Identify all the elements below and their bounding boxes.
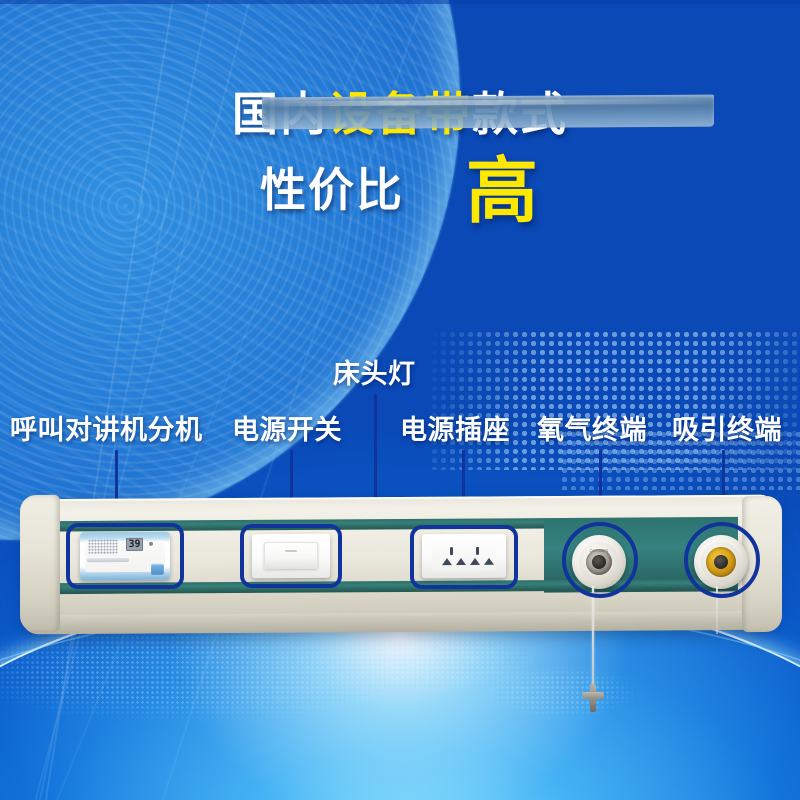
callout-box-power-switch[interactable] bbox=[240, 524, 342, 588]
callout-box-oxygen-outlet[interactable] bbox=[562, 522, 638, 598]
pendant-crossbar bbox=[582, 692, 604, 699]
headline-emphasis-char: 高 bbox=[466, 152, 540, 232]
callout-label-bedside-lamp: 床头灯 bbox=[333, 358, 416, 390]
top-edge-bar bbox=[0, 0, 800, 4]
headline-line-2: 性价比高 bbox=[0, 156, 800, 228]
unit-end-cap-left bbox=[20, 495, 60, 632]
callout-box-suction-outlet[interactable] bbox=[684, 522, 760, 598]
callout-label-power-switch: 电源开关 bbox=[232, 414, 342, 446]
callout-label-intercom: 呼叫对讲机分机 bbox=[10, 414, 203, 446]
callout-label-oxygen-outlet: 氧气终端 bbox=[537, 414, 647, 446]
callout-label-power-socket: 电源插座 bbox=[400, 414, 510, 446]
callout-label-suction-outlet: 吸引终端 bbox=[672, 414, 782, 446]
cord-pendant-fitting bbox=[582, 684, 604, 712]
callout-box-intercom[interactable] bbox=[66, 523, 184, 589]
headline-subtext: 性价比 bbox=[260, 164, 404, 216]
hanging-cord-primary bbox=[592, 586, 594, 696]
callout-box-power-socket[interactable] bbox=[410, 525, 518, 589]
poster-canvas: 国内设备带款式 性价比高 呼叫对讲机分机 电源开关 床头灯 电源插座 氧气终端 … bbox=[0, 0, 800, 800]
